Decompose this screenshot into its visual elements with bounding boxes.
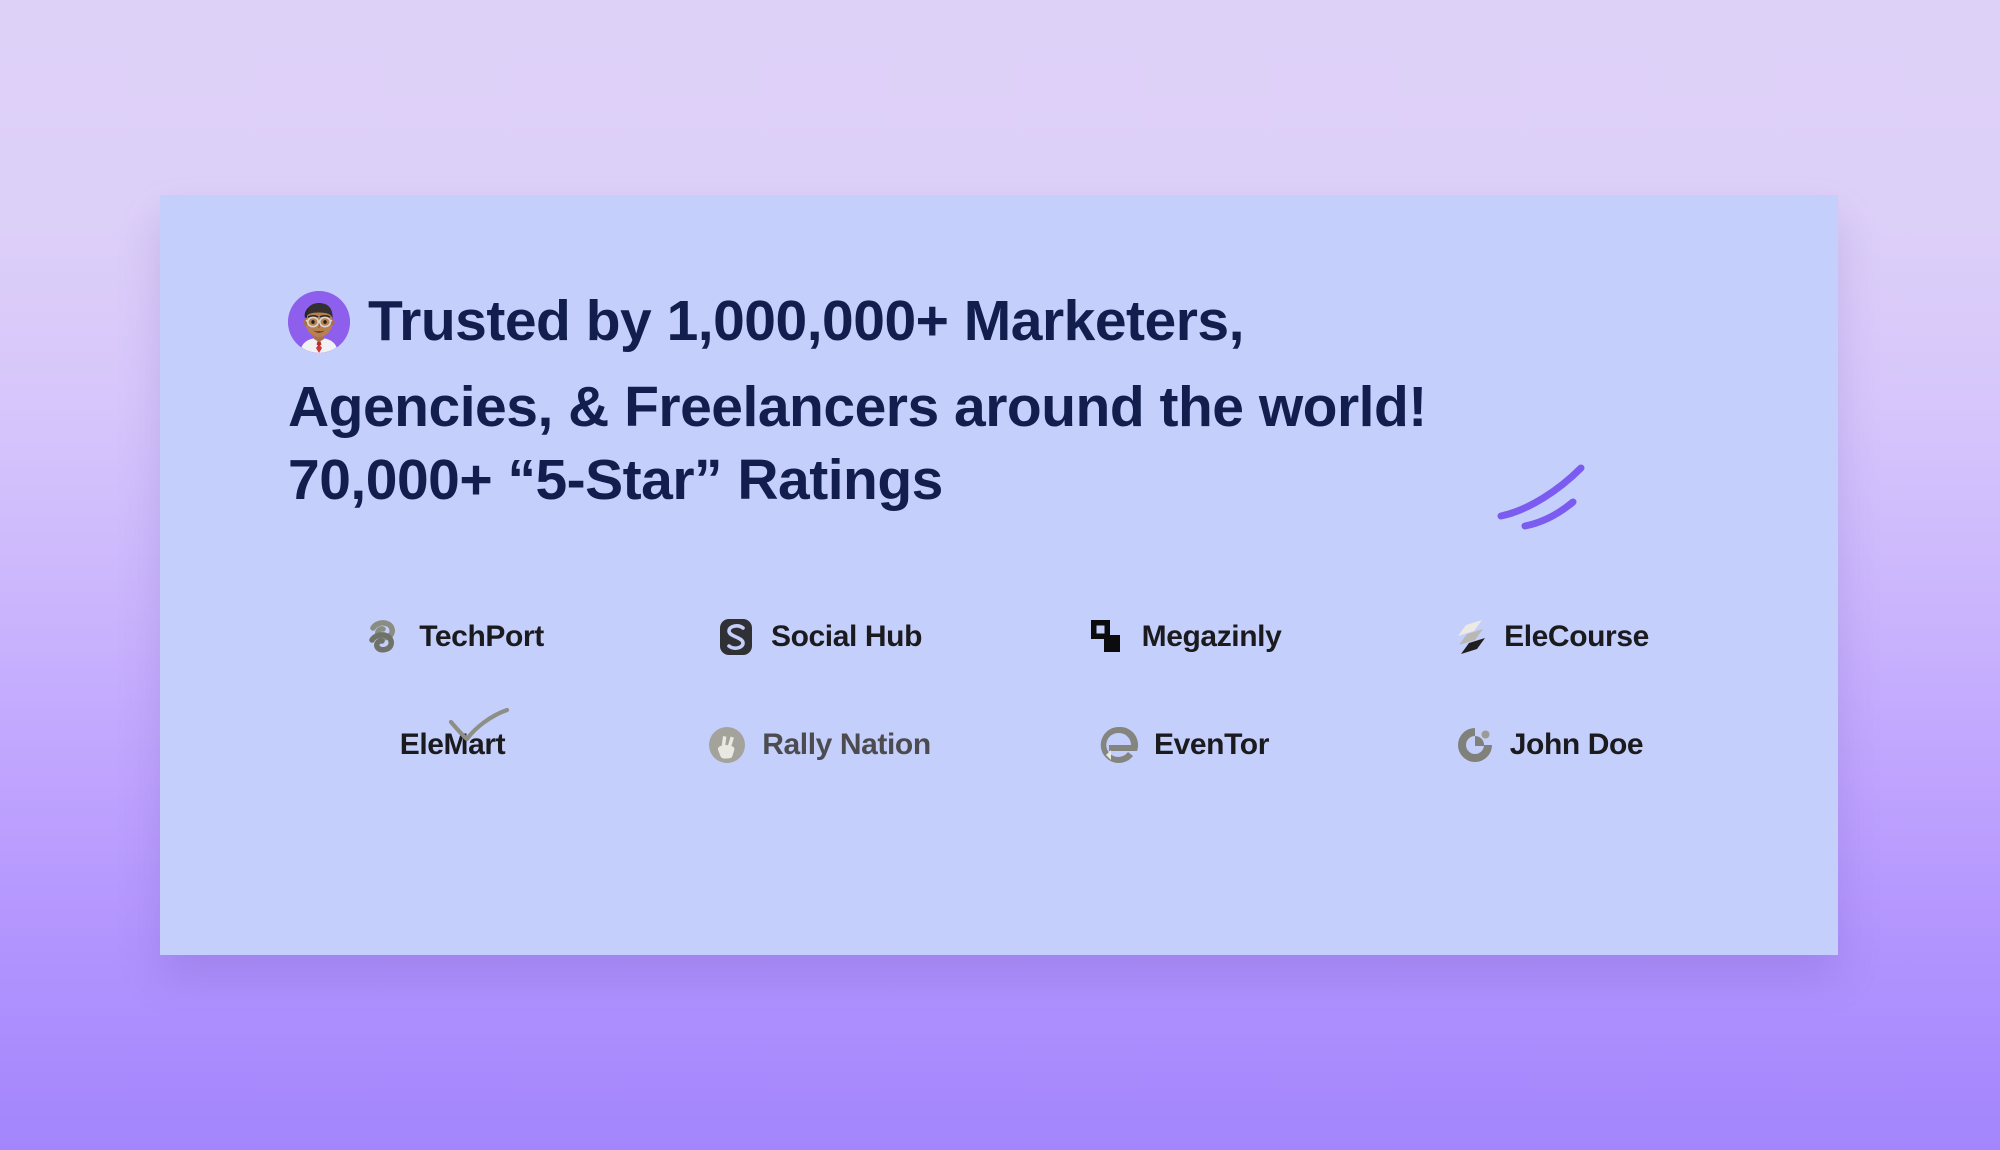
logo-item-rally-nation[interactable]: Rally Nation — [635, 722, 1000, 768]
logo-item-elecourse[interactable]: EleCourse — [1365, 614, 1730, 660]
circle-swirl-dot-icon — [1452, 722, 1498, 768]
headline-text-1: Trusted by 1,000,000+ Marketers, — [368, 289, 1244, 353]
offset-squares-icon — [1084, 614, 1130, 660]
avatar — [288, 291, 350, 371]
logo-label: EvenTor — [1154, 728, 1269, 762]
logo-label: Rally Nation — [762, 728, 931, 762]
partner-logo-grid: TechPort Social Hub Megazinly — [270, 583, 1730, 799]
logo-item-megazinly[interactable]: Megazinly — [1000, 614, 1365, 660]
logo-label: Megazinly — [1142, 620, 1282, 654]
logo-item-social-hub[interactable]: Social Hub — [635, 614, 1000, 660]
social-proof-card: Trusted by 1,000,000+ Marketers, Agencie… — [160, 195, 1838, 955]
headline-line-2: Agencies, & Freelancers around the world… — [288, 371, 1708, 444]
logo-item-techport[interactable]: TechPort — [270, 614, 635, 660]
logo-item-eventor[interactable]: EvenTor — [1000, 722, 1365, 768]
circular-e-icon — [1096, 722, 1142, 768]
avatar-image — [288, 291, 350, 353]
logo-item-elemart[interactable]: EleMart — [270, 728, 635, 762]
logo-label: EleMart — [400, 728, 506, 762]
logo-label: John Doe — [1510, 728, 1643, 762]
logo-label: EleCourse — [1504, 620, 1649, 654]
spiral-swirl-icon — [361, 614, 407, 660]
logo-label: TechPort — [419, 620, 544, 654]
rounded-square-s-icon — [713, 614, 759, 660]
peace-hand-circle-icon — [704, 722, 750, 768]
logo-label-text: EleMart — [400, 728, 506, 761]
logo-label: Social Hub — [771, 620, 922, 654]
headline-line-1: Trusted by 1,000,000+ Marketers, — [288, 285, 1708, 371]
stacked-plates-icon — [1446, 614, 1492, 660]
logo-item-john-doe[interactable]: John Doe — [1365, 722, 1730, 768]
swoosh-lines-decoration — [1495, 460, 1615, 532]
